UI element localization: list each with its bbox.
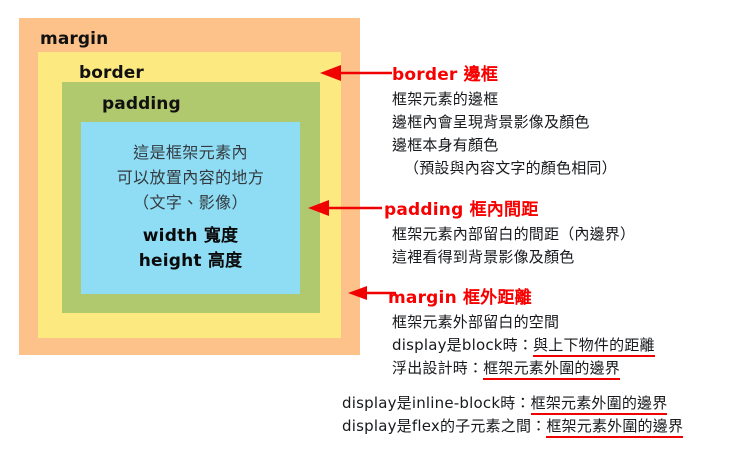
padding-note-heading: padding 框內間距 xyxy=(384,195,538,220)
margin-note-line-2: display是block時：與上下物件的距離 xyxy=(392,334,655,357)
margin-note-line-5-prefix: display是flex的子元素之間： xyxy=(342,417,546,435)
padding-note-body: 框架元素內部留白的間距（內邊界） 這裡看得到背景影像及顏色 xyxy=(392,223,635,269)
margin-note-line-2-prefix: display是block時： xyxy=(392,336,533,354)
margin-note-body-extra: display是inline-block時：框架元素外圍的邊界 display是… xyxy=(342,392,683,438)
margin-note-line-5-underlined: 框架元素外圍的邊界 xyxy=(546,417,683,438)
margin-note-body: 框架元素外部留白的空間 display是block時：與上下物件的距離 浮出設計… xyxy=(392,311,655,380)
padding-note-line-2: 這裡看得到背景影像及顏色 xyxy=(392,246,635,269)
margin-note-line-5: display是flex的子元素之間：框架元素外圍的邊界 xyxy=(342,415,683,438)
margin-note-line-1: 框架元素外部留白的空間 xyxy=(392,311,655,334)
margin-note-line-2-underlined: 與上下物件的距離 xyxy=(533,336,655,357)
border-note-body: 框架元素的邊框 邊框內會呈現背景影像及顏色 邊框本身有顏色 （預設與內容文字的顏… xyxy=(392,88,617,180)
border-note-line-1: 框架元素的邊框 xyxy=(392,88,617,111)
border-note-heading: border 邊框 xyxy=(392,60,498,85)
annotations-panel: border 邊框 框架元素的邊框 邊框內會呈現背景影像及顏色 邊框本身有顏色 … xyxy=(0,0,750,461)
margin-note-line-4-underlined: 框架元素外圍的邊界 xyxy=(531,394,668,415)
margin-note-line-4-prefix: display是inline-block時： xyxy=(342,394,531,412)
margin-note-line-3-underlined: 框架元素外圍的邊界 xyxy=(483,359,620,380)
margin-note-line-3-prefix: 浮出設計時： xyxy=(392,359,483,377)
border-note-line-3: 邊框本身有顏色 xyxy=(392,134,617,157)
border-note-line-2: 邊框內會呈現背景影像及顏色 xyxy=(392,111,617,134)
margin-note-line-3: 浮出設計時：框架元素外圍的邊界 xyxy=(392,357,655,380)
border-note-line-4: （預設與內容文字的顏色相同） xyxy=(392,157,617,180)
margin-note-heading: margin 框外距離 xyxy=(388,283,532,308)
margin-note-line-4: display是inline-block時：框架元素外圍的邊界 xyxy=(342,392,683,415)
padding-note-line-1: 框架元素內部留白的間距（內邊界） xyxy=(392,223,635,246)
